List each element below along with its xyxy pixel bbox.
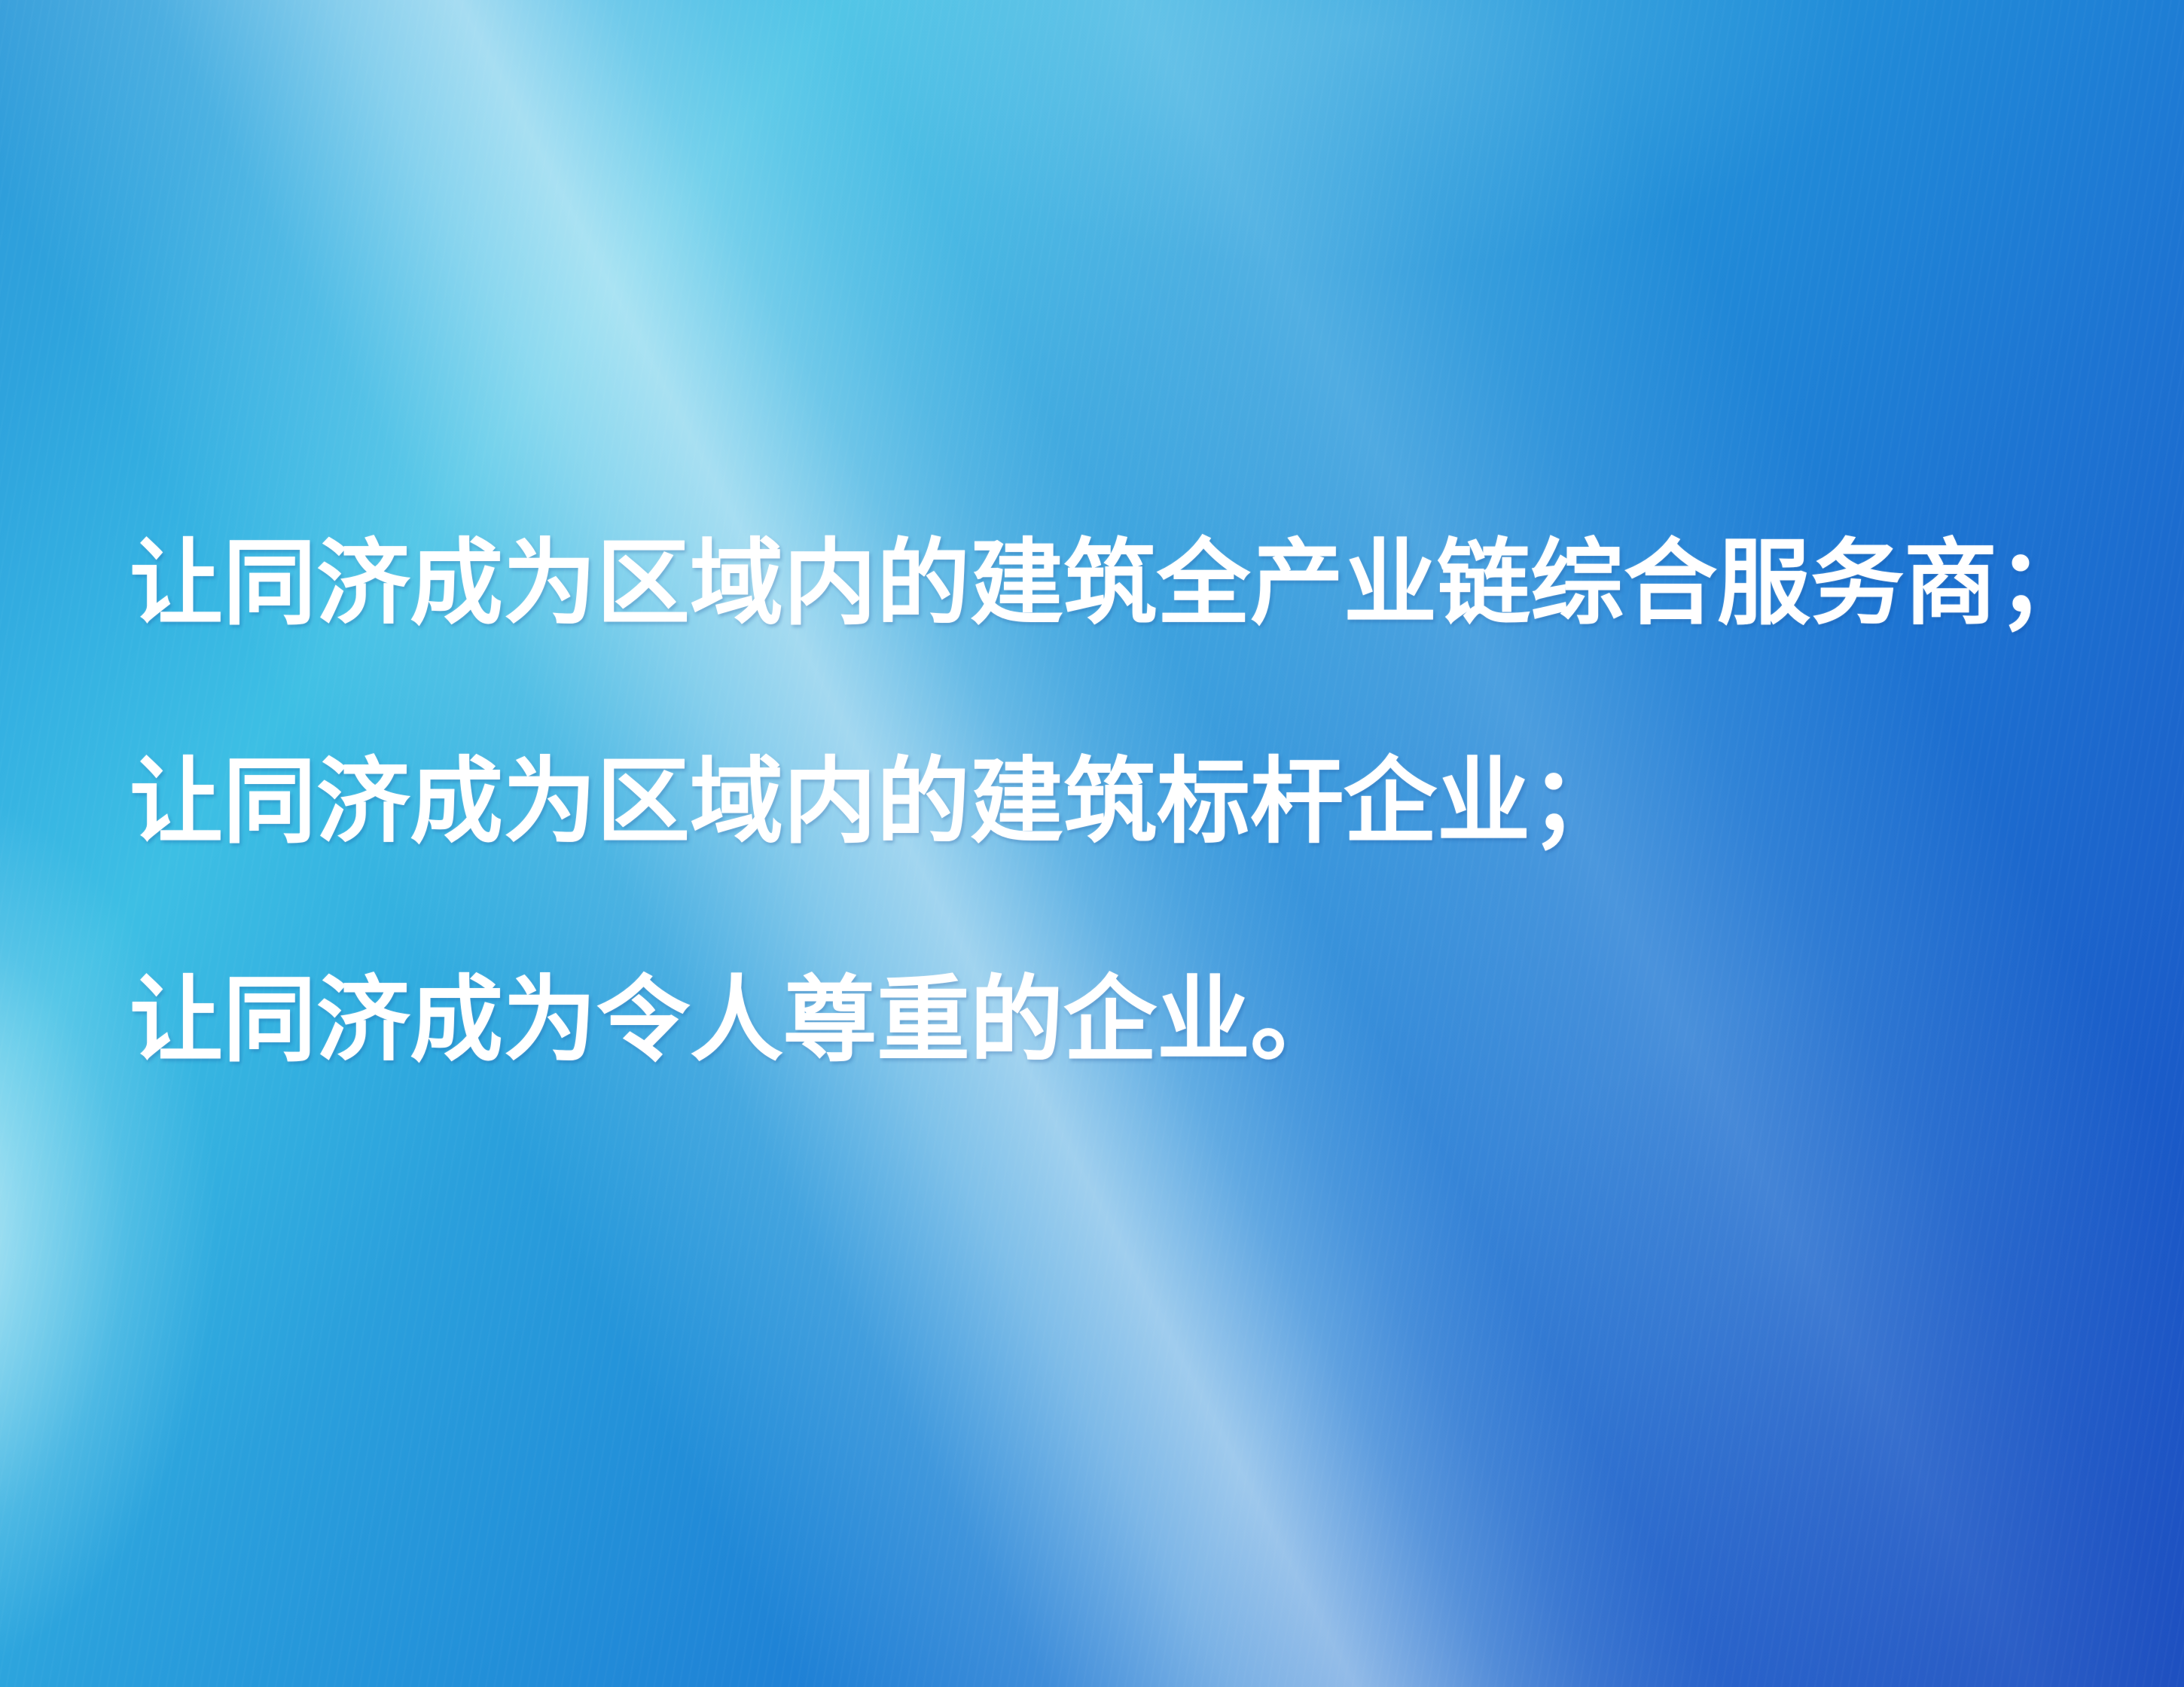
slide-line-2: 让同济成为区域内的建筑标杆企业； — [130, 693, 2103, 911]
slide-line-1: 让同济成为区域内的建筑全产业链综合服务商； — [130, 474, 2103, 693]
presentation-slide: 让同济成为区域内的建筑全产业链综合服务商； 让同济成为区域内的建筑标杆企业； 让… — [0, 0, 2184, 1687]
slide-line-3: 让同济成为令人尊重的企业。 — [130, 911, 2103, 1130]
slide-text-block: 让同济成为区域内的建筑全产业链综合服务商； 让同济成为区域内的建筑标杆企业； 让… — [130, 474, 2103, 1130]
